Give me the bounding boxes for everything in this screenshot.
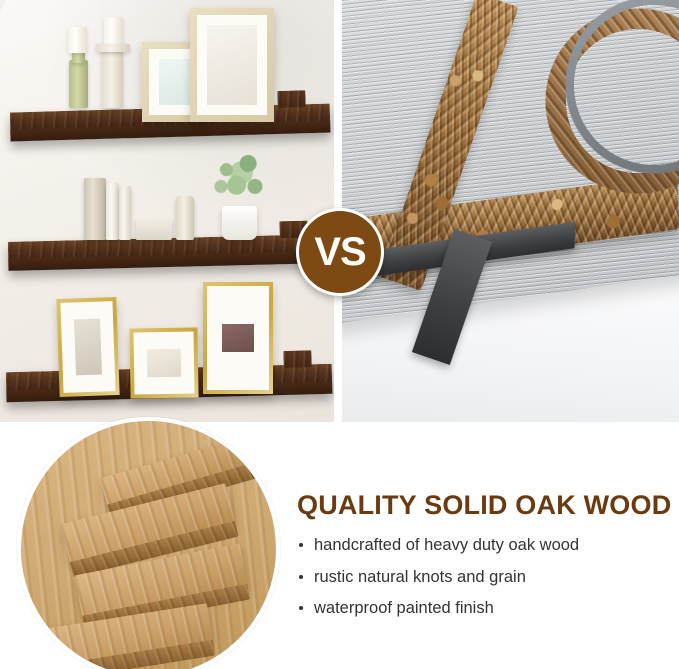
vs-badge-label: VS	[314, 232, 365, 272]
shelf-lip	[283, 350, 311, 368]
candle-holder-cream	[102, 48, 123, 108]
picture-frame-gold	[56, 297, 119, 397]
plank-edge	[35, 640, 215, 669]
info-copy: QUALITY SOLID OAK WOOD handcrafted of he…	[297, 490, 667, 632]
panel-particle-board	[342, 0, 679, 422]
shelf-lip	[277, 90, 305, 108]
decor-vase	[176, 196, 194, 240]
frame-art	[74, 319, 102, 376]
candle	[68, 27, 87, 53]
panel-solid-oak-shelves	[0, 0, 334, 422]
book-stack	[136, 218, 172, 240]
book	[106, 183, 119, 240]
frame-art	[147, 349, 181, 378]
frame-mat	[133, 331, 194, 394]
frame-mat	[197, 15, 267, 115]
frame-mat	[207, 286, 269, 390]
vs-badge: VS	[296, 208, 384, 296]
oak-boards-circle-photo	[17, 417, 280, 669]
particle-board-scene	[342, 0, 679, 422]
picture-frame-gold	[203, 282, 273, 394]
feature-item: handcrafted of heavy duty oak wood	[297, 537, 667, 554]
frame-art	[207, 25, 257, 105]
comparison-section: VS	[0, 0, 679, 422]
book	[84, 178, 106, 240]
feature-item: waterproof painted finish	[297, 600, 667, 617]
product-comparison-image: VS QUALITY SOLID OAK WOOD handcrafted of…	[0, 0, 679, 669]
picture-frame-gold	[129, 327, 198, 398]
frame-art	[222, 324, 254, 352]
book	[119, 186, 131, 240]
plant-foliage	[206, 148, 274, 210]
feature-list: handcrafted of heavy duty oak wood rusti…	[297, 537, 667, 617]
plant-pot	[222, 206, 257, 240]
feature-item: rustic natural knots and grain	[297, 569, 667, 586]
picture-frame-cream	[190, 8, 274, 122]
candle-holder-cream	[96, 44, 130, 52]
candle-holder-green	[69, 60, 88, 108]
frame-mat	[60, 301, 115, 393]
info-headline: QUALITY SOLID OAK WOOD	[297, 490, 667, 521]
